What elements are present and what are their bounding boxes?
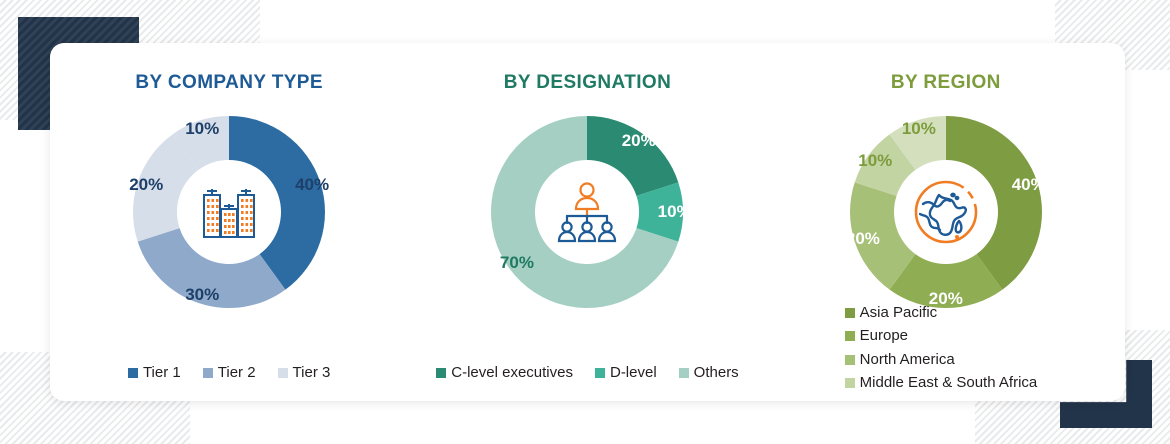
legend-item[interactable]: C-level executives (436, 363, 573, 383)
legend-item[interactable]: Tier 3 (278, 363, 331, 383)
infographic-canvas: BY COMPANY TYPE (0, 0, 1170, 444)
content-card: BY COMPANY TYPE (50, 43, 1125, 401)
legend-item[interactable]: Middle East & South Africa (845, 373, 1038, 393)
donut-chart: 40%30%20%10% (125, 108, 333, 316)
chart-legend: C-level executivesD-levelOthers (436, 363, 738, 383)
legend-item[interactable]: North America (845, 350, 955, 370)
legend-swatch-icon (203, 368, 213, 378)
globe-icon-svg (910, 176, 982, 248)
legend-label: Tier 3 (293, 363, 331, 383)
chart-panel-3: BY REGION 40%20%20%10%10%Asia PacificEur… (767, 43, 1125, 401)
legend-item[interactable]: Tier 2 (203, 363, 256, 383)
legend-label: Tier 1 (143, 363, 181, 383)
legend-swatch-icon (679, 368, 689, 378)
legend-label: Tier 2 (218, 363, 256, 383)
legend-swatch-icon (845, 378, 855, 388)
donut-center-icon (535, 160, 639, 264)
donut-center-icon (177, 160, 281, 264)
legend-item[interactable]: Asia Pacific (845, 303, 938, 323)
panel-title: BY COMPANY TYPE (135, 72, 323, 94)
chart-panel-1: BY COMPANY TYPE (50, 43, 408, 401)
panel-title: BY DESIGNATION (504, 72, 671, 94)
legend-label: Asia Pacific (860, 303, 938, 323)
legend-swatch-icon (278, 368, 288, 378)
legend-label: Middle East & South Africa (860, 373, 1038, 393)
panel-title: BY REGION (891, 72, 1001, 94)
panel-row: BY COMPANY TYPE (50, 43, 1125, 401)
legend-item[interactable]: D-level (595, 363, 657, 383)
legend-swatch-icon (845, 331, 855, 341)
legend-item[interactable]: Europe (845, 326, 908, 346)
chart-legend: Asia PacificEuropeNorth AmericaMiddle Ea… (845, 303, 1038, 393)
chart-panel-2: BY DESIGNATION 20%10%70%C-level executiv… (408, 43, 766, 401)
legend-item[interactable]: Tier 1 (128, 363, 181, 383)
legend-swatch-icon (595, 368, 605, 378)
legend-label: D-level (610, 363, 657, 383)
legend-swatch-icon (845, 355, 855, 365)
legend-swatch-icon (845, 308, 855, 318)
legend-swatch-icon (128, 368, 138, 378)
donut-center-icon (894, 160, 998, 264)
legend-label: Others (694, 363, 739, 383)
org-chart-icon-svg (552, 180, 622, 244)
legend-item[interactable]: Others (679, 363, 739, 383)
legend-label: Europe (860, 326, 908, 346)
legend-label: C-level executives (451, 363, 573, 383)
donut-chart: 40%20%20%10%10% (842, 108, 1050, 316)
legend-swatch-icon (436, 368, 446, 378)
legend-label: North America (860, 350, 955, 370)
chart-legend: Tier 1Tier 2Tier 3 (128, 363, 330, 383)
donut-chart: 20%10%70% (483, 108, 691, 316)
buildings-icon-svg (196, 179, 262, 245)
